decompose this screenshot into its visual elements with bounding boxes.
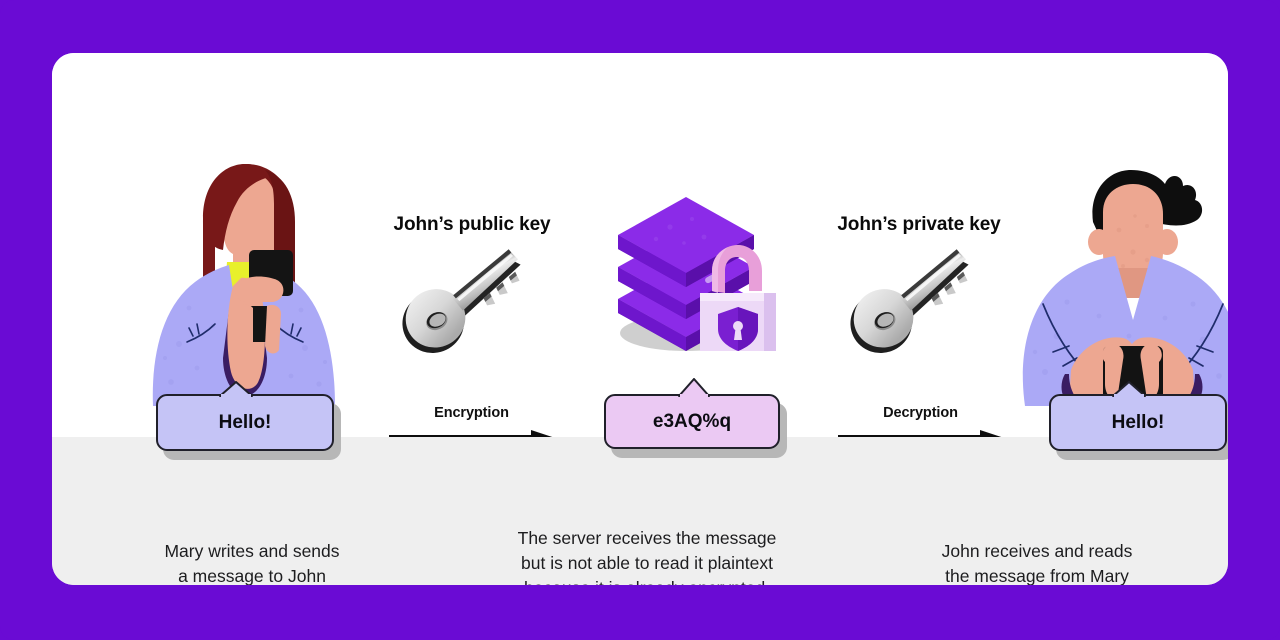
server-stack-icon (600, 181, 780, 366)
message-text-john: Hello! (1049, 394, 1227, 451)
message-bubble-encrypted: e3AQ%q (604, 394, 780, 449)
diagram-stage: John’s public key (0, 0, 1280, 640)
person-john-phone-illustration (1007, 156, 1228, 411)
message-bubble-john: Hello! (1049, 394, 1227, 451)
caption-mary: Mary writes and sends a message to John (102, 539, 402, 585)
encryption-label: Encryption (389, 405, 554, 421)
bubble-tail-icon (216, 381, 256, 397)
bubble-tail-icon (674, 378, 714, 397)
public-key-label: John’s public key (342, 214, 602, 236)
decryption-label: Decryption (838, 405, 1003, 421)
bubble-tail-icon (1109, 381, 1149, 397)
key-icon (840, 248, 990, 363)
person-mary-phone-illustration (145, 158, 345, 413)
diagram-card: John’s public key (52, 53, 1228, 585)
message-bubble-mary: Hello! (156, 394, 334, 451)
message-text-encrypted: e3AQ%q (604, 394, 780, 449)
caption-john: John receives and reads the message from… (887, 539, 1187, 585)
key-icon (392, 248, 542, 363)
card-illustration-area: John’s public key (52, 53, 1228, 437)
message-text-mary: Hello! (156, 394, 334, 451)
caption-server: The server receives the message but is n… (492, 526, 802, 585)
